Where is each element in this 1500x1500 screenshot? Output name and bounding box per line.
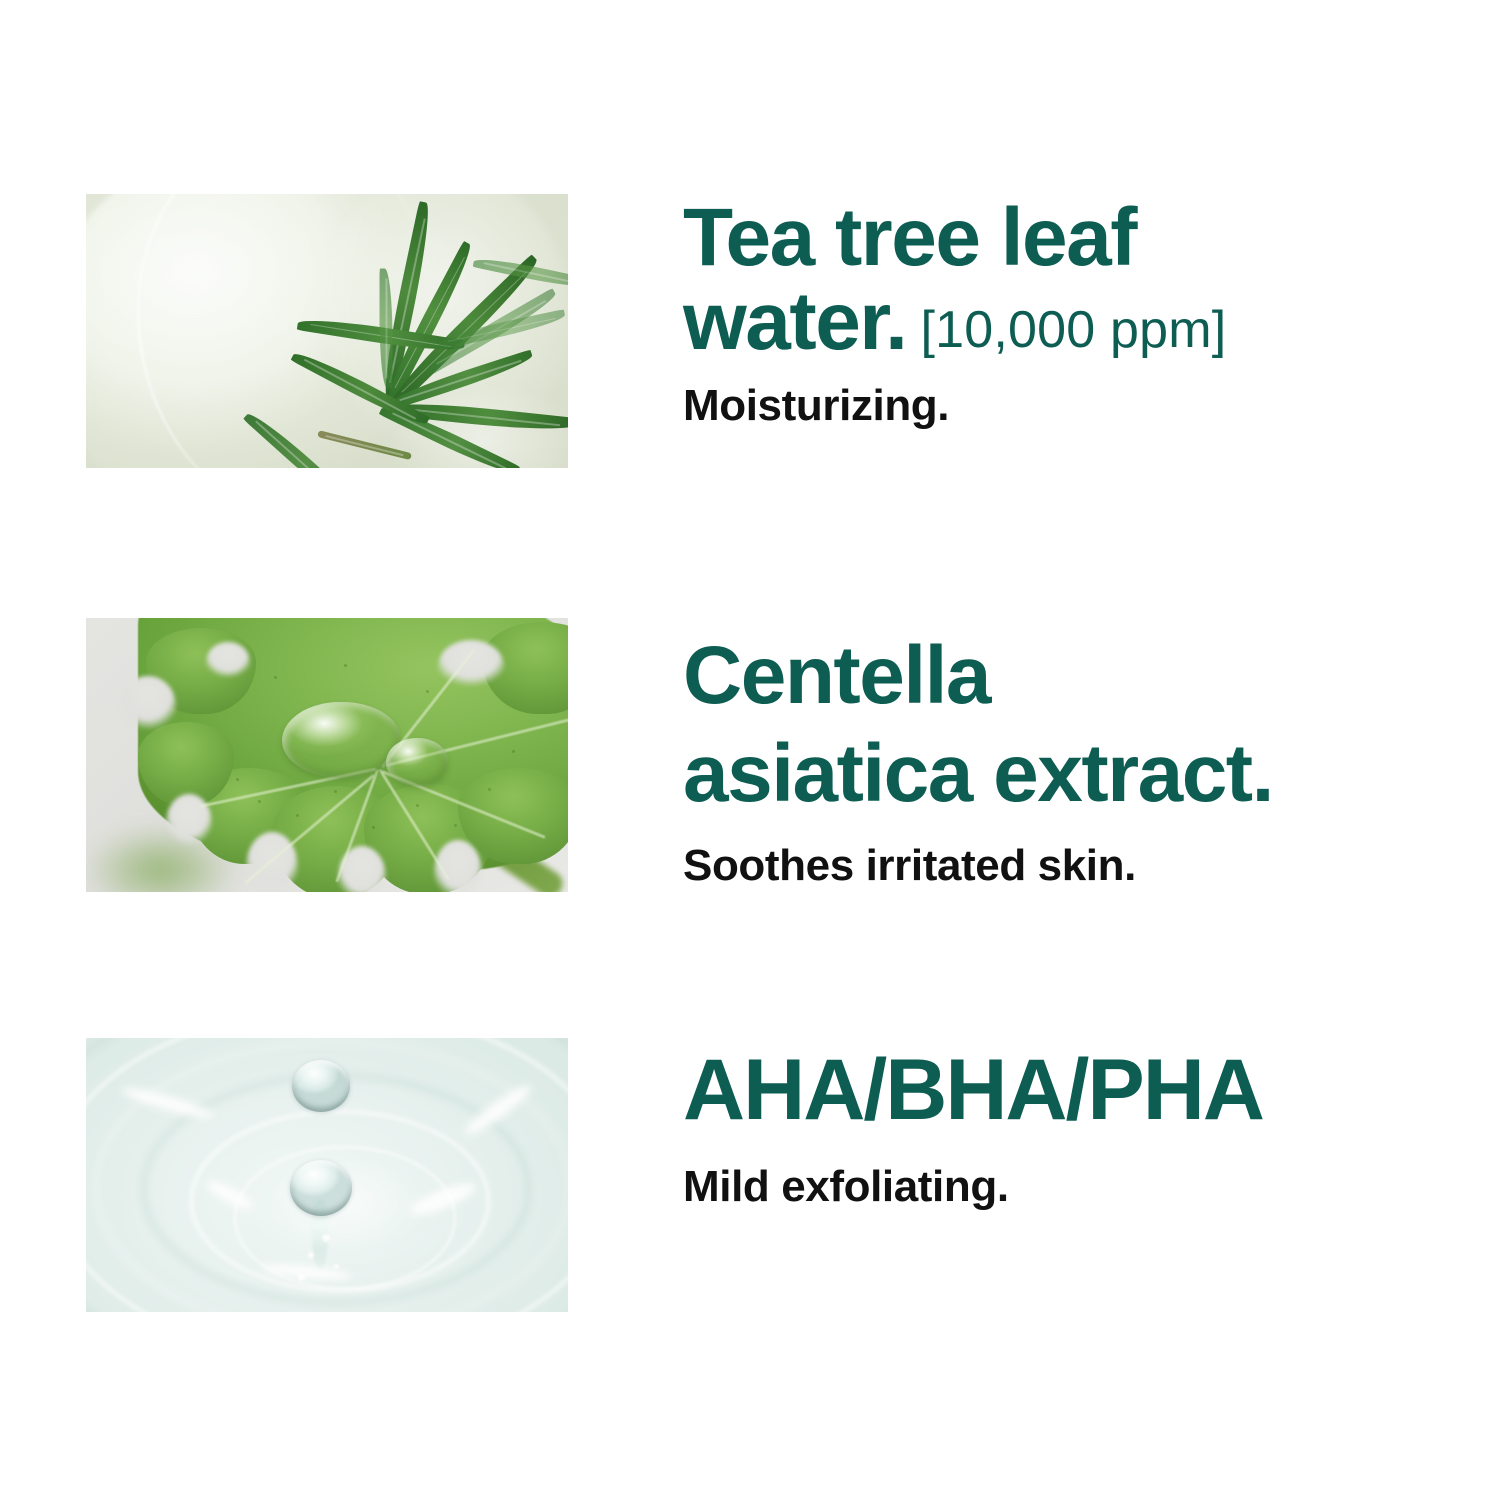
feature-row-tea-tree: Tea tree leaf water.[10,000 ppm] Moistur… (86, 194, 1426, 468)
headline-text: water. (683, 276, 906, 367)
leaf-speck (488, 788, 491, 791)
feature-row-centella: Centella asiatica extract. Soothes irrit… (86, 618, 1426, 892)
leaf-notch (206, 642, 250, 682)
leaf-notch (166, 794, 212, 852)
leaf-speck (454, 824, 457, 827)
splash-bead (322, 1234, 330, 1242)
leaf-speck (258, 800, 261, 803)
water-droplet-small (386, 738, 448, 786)
leaf-speck (274, 676, 277, 679)
leaf-speck (236, 778, 239, 781)
leaf-speck (296, 814, 299, 817)
leaf-speck (416, 804, 419, 807)
feature-headline-line1: Centella (683, 618, 1443, 716)
feature-subline: Moisturizing. (683, 363, 1443, 431)
leaf-speck (426, 690, 429, 693)
leaf-notch (120, 676, 176, 736)
tea-tree-text-column: Tea tree leaf water.[10,000 ppm] Moistur… (683, 194, 1443, 468)
product-ingredient-infographic: Tea tree leaf water.[10,000 ppm] Moistur… (0, 0, 1500, 1500)
feature-subline: Mild exfoliating. (683, 1132, 1443, 1212)
water-droplet-rebound (290, 1160, 352, 1216)
water-droplet-falling (292, 1060, 350, 1112)
leaf-speck (512, 750, 515, 753)
splash-bead (334, 1264, 339, 1269)
concentration-badge: [10,000 ppm] (920, 301, 1226, 359)
feature-headline-line1: Tea tree leaf (683, 194, 1443, 278)
water-droplet-large (282, 702, 400, 778)
tea-tree-leaf-water-image (86, 194, 568, 468)
centella-asiatica-leaf-image (86, 618, 568, 892)
centella-text-column: Centella asiatica extract. Soothes irrit… (683, 618, 1443, 892)
aha-bha-pha-text-column: AHA/BHA/PHA Mild exfoliating. (683, 1038, 1443, 1312)
feature-headline-line2: asiatica extract. (683, 716, 1443, 814)
splash-bead (308, 1252, 314, 1258)
feature-subline: Soothes irritated skin. (683, 815, 1443, 891)
feature-row-aha-bha-pha: AHA/BHA/PHA Mild exfoliating. (86, 1038, 1426, 1312)
feature-headline-line2: water.[10,000 ppm] (683, 278, 1443, 362)
leaf-speck (344, 664, 347, 667)
water-droplet-ripple-image (86, 1038, 568, 1312)
leaf-speck (372, 826, 375, 829)
leaf-speck (334, 790, 337, 793)
feature-headline-line1: AHA/BHA/PHA (683, 1038, 1443, 1132)
